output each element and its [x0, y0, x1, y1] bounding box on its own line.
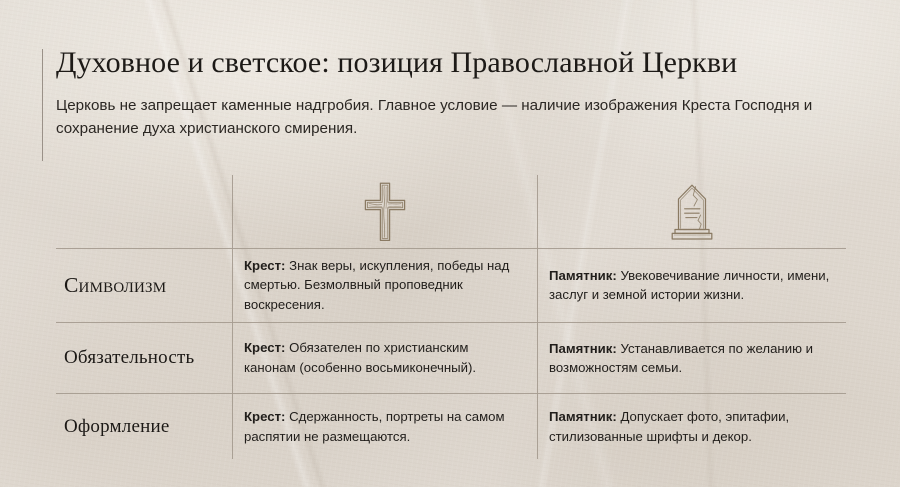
row-category-label: Оформление — [64, 416, 169, 437]
memorial-lead-label: Памятник: — [549, 268, 617, 283]
header-accent-rule — [42, 49, 43, 161]
row-category-cell: Символизм — [56, 249, 232, 322]
memorial-lead-label: Памятник: — [549, 341, 617, 356]
gravestone-icon — [667, 182, 717, 242]
memorial-description: Памятник: Увековечивание личности, имени… — [549, 266, 832, 305]
row-category-cell: Обязательность — [56, 323, 232, 393]
cross-description: Крест: Сдержанность, портреты на самом р… — [244, 407, 519, 446]
row-category-label: Символизм — [64, 273, 166, 297]
row-category-label: Обязательность — [64, 347, 194, 368]
table-row: Оформление Крест: Сдержанность, портреты… — [56, 394, 846, 459]
cross-column-header — [232, 175, 537, 248]
memorial-column-header — [537, 175, 846, 248]
page-title: Духовное и светское: позиция Православно… — [56, 46, 856, 80]
cross-lead-label: Крест: — [244, 340, 285, 355]
cross-lead-label: Крест: — [244, 258, 285, 273]
memorial-description: Памятник: Устанавливается по желанию и в… — [549, 339, 832, 378]
header-block: Духовное и светское: позиция Православно… — [56, 46, 856, 140]
cross-lead-label: Крест: — [244, 409, 285, 424]
row-cross-cell: Крест: Сдержанность, портреты на самом р… — [232, 394, 537, 459]
table-row: Обязательность Крест: Обязателен по хрис… — [56, 323, 846, 393]
subtitle-text: Церковь не запрещает каменные надгробия.… — [56, 94, 846, 140]
row-category-cell: Оформление — [56, 394, 232, 459]
slide-canvas: Духовное и светское: позиция Православно… — [0, 0, 900, 487]
comparison-table: Символизм Крест: Знак веры, искупления, … — [56, 175, 846, 459]
row-memorial-cell: Памятник: Устанавливается по желанию и в… — [537, 323, 846, 393]
memorial-lead-label: Памятник: — [549, 409, 617, 424]
row-memorial-cell: Памятник: Допускает фото, эпитафии, стил… — [537, 394, 846, 459]
cross-description: Крест: Знак веры, искупления, победы над… — [244, 256, 519, 314]
cross-icon — [363, 181, 407, 243]
memorial-description: Памятник: Допускает фото, эпитафии, стил… — [549, 407, 832, 446]
row-memorial-cell: Памятник: Увековечивание личности, имени… — [537, 249, 846, 322]
cross-description: Крест: Обязателен по христианским канона… — [244, 338, 519, 377]
table-header-row — [56, 175, 846, 248]
table-row: Символизм Крест: Знак веры, искупления, … — [56, 249, 846, 322]
row-cross-cell: Крест: Обязателен по христианским канона… — [232, 323, 537, 393]
row-cross-cell: Крест: Знак веры, искупления, победы над… — [232, 249, 537, 322]
